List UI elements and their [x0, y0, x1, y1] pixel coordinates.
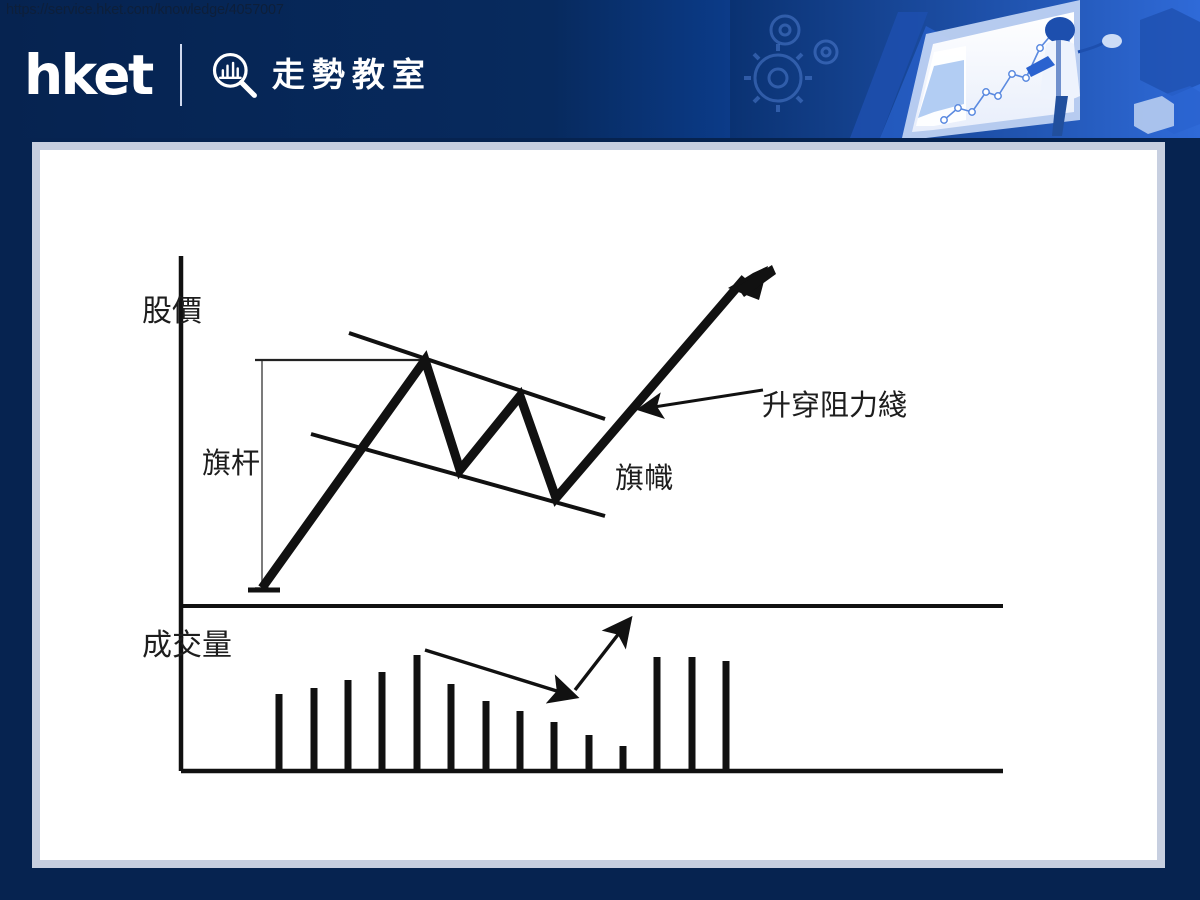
- isometric-analyst-illustration: [730, 0, 1200, 138]
- magnifier-chart-icon: [208, 49, 260, 101]
- header-band: hket 走勢教室 https://service.hket.com/knowl…: [0, 0, 1200, 138]
- site-logo[interactable]: hket 走勢教室: [24, 44, 432, 106]
- flagpole-annotation-label: 旗杆: [202, 440, 260, 482]
- hket-wordmark[interactable]: hket: [24, 48, 152, 103]
- volume-surge-arrow: [575, 632, 620, 690]
- flag-pattern-chart: [32, 142, 1165, 868]
- page-root: hket 走勢教室 https://service.hket.com/knowl…: [0, 0, 1200, 900]
- flag-annotation-label: 旗幟: [615, 455, 673, 497]
- volume-decreasing-arrow: [425, 650, 560, 692]
- volume-axis-label: 成交量: [142, 624, 176, 668]
- breakout-callout-arrow: [654, 390, 763, 407]
- brand-title: 走勢教室: [272, 57, 432, 93]
- logo-divider: [180, 44, 182, 106]
- price-path: [262, 278, 745, 588]
- flag-pattern-figure: 股價 成交量 旗杆 旗幟 升穿阻力綫: [32, 142, 1165, 868]
- price-axis-label: 股價: [142, 290, 176, 334]
- url-overlay-text: https://service.hket.com/knowledge/40570…: [6, 2, 306, 19]
- breakout-annotation-label: 升穿阻力綫: [762, 382, 907, 424]
